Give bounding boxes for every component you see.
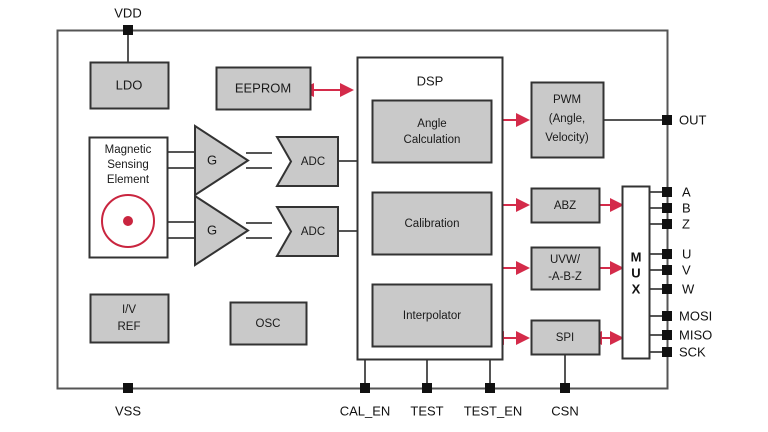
block-uvw-label-line2: -A-B-Z [548, 271, 582, 283]
block-eeprom-label: EEPROM [235, 80, 291, 95]
block-ldo-label: LDO [116, 77, 143, 92]
block-pwm-label-line2: (Angle, [549, 113, 585, 125]
block-angle-calculation: Angle Calculation [373, 101, 492, 163]
block-dsp: DSP Angle Calculation Calibration Interp… [358, 58, 503, 360]
block-eeprom: EEPROM [217, 68, 311, 110]
block-interpolator-label: Interpolator [403, 310, 461, 322]
block-uvw-label-line1: UVW/ [550, 254, 581, 266]
block-mux-label-line2: U [631, 265, 640, 280]
pin-sck: SCK [662, 344, 706, 359]
block-spi-label: SPI [556, 332, 575, 344]
block-ldo: LDO [91, 63, 169, 109]
block-spi: SPI [532, 321, 600, 355]
block-dsp-label: DSP [417, 73, 444, 88]
pin-w-label: W [682, 281, 695, 296]
pin-vdd-label: VDD [114, 5, 141, 20]
pin-a-label: A [682, 184, 691, 199]
pin-vss-label: VSS [115, 403, 141, 418]
block-mux-label-line3: X [632, 281, 641, 296]
pin-out: OUT [662, 112, 707, 127]
pin-miso: MISO [662, 327, 712, 342]
block-iv-ref-label-line2: REF [118, 321, 141, 333]
mse-label-line2: Sensing [107, 159, 149, 171]
sensor-center-dot-icon [123, 216, 133, 226]
pin-cal-en-label: CAL_EN [340, 403, 391, 418]
pin-z-label: Z [682, 216, 690, 231]
mse-label-line3: Element [107, 174, 150, 186]
pin-test-en-label: TEST_EN [464, 403, 523, 418]
pin-v-label: V [682, 262, 691, 277]
pin-mosi: MOSI [662, 308, 712, 323]
block-abz: ABZ [532, 189, 600, 223]
pin-u-label: U [682, 246, 691, 261]
pin-mosi-label: MOSI [679, 308, 712, 323]
block-pwm: PWM (Angle, Velocity) [532, 83, 604, 158]
diagram-svg: LDO EEPROM DSP Angle Calculation Calibra… [0, 0, 768, 432]
mse-label-line1: Magnetic [105, 144, 152, 156]
block-adc-top-label: ADC [301, 156, 325, 168]
block-uvw: UVW/ -A-B-Z [532, 248, 600, 290]
block-mux: M U X [623, 187, 650, 359]
block-diagram-canvas: LDO EEPROM DSP Angle Calculation Calibra… [0, 0, 768, 432]
block-osc-label: OSC [256, 318, 281, 330]
block-gain-bottom-label: G [207, 222, 217, 237]
block-abz-label: ABZ [554, 200, 576, 212]
block-calibration-label: Calibration [405, 218, 460, 230]
block-iv-ref-label-line1: I/V [122, 304, 136, 316]
block-angle-calculation-label-line2: Calculation [404, 134, 461, 146]
pin-miso-label: MISO [679, 327, 712, 342]
pin-out-label: OUT [679, 112, 707, 127]
pin-test-label: TEST [410, 403, 443, 418]
block-iv-ref: I/V REF [91, 295, 169, 343]
pin-b-label: B [682, 200, 691, 215]
block-osc: OSC [231, 303, 307, 345]
pin-sck-label: SCK [679, 344, 706, 359]
block-angle-calculation-label-line1: Angle [417, 118, 446, 130]
block-pwm-label-line3: Velocity) [545, 132, 589, 144]
block-interpolator: Interpolator [373, 285, 492, 347]
pin-csn-label: CSN [551, 403, 578, 418]
block-magnetic-sensing-element: Magnetic Sensing Element [90, 138, 168, 258]
block-mux-label-line1: M [631, 249, 642, 264]
block-calibration: Calibration [373, 193, 492, 255]
block-pwm-label-line1: PWM [553, 94, 581, 106]
block-adc-bottom-label: ADC [301, 226, 325, 238]
block-gain-top-label: G [207, 152, 217, 167]
